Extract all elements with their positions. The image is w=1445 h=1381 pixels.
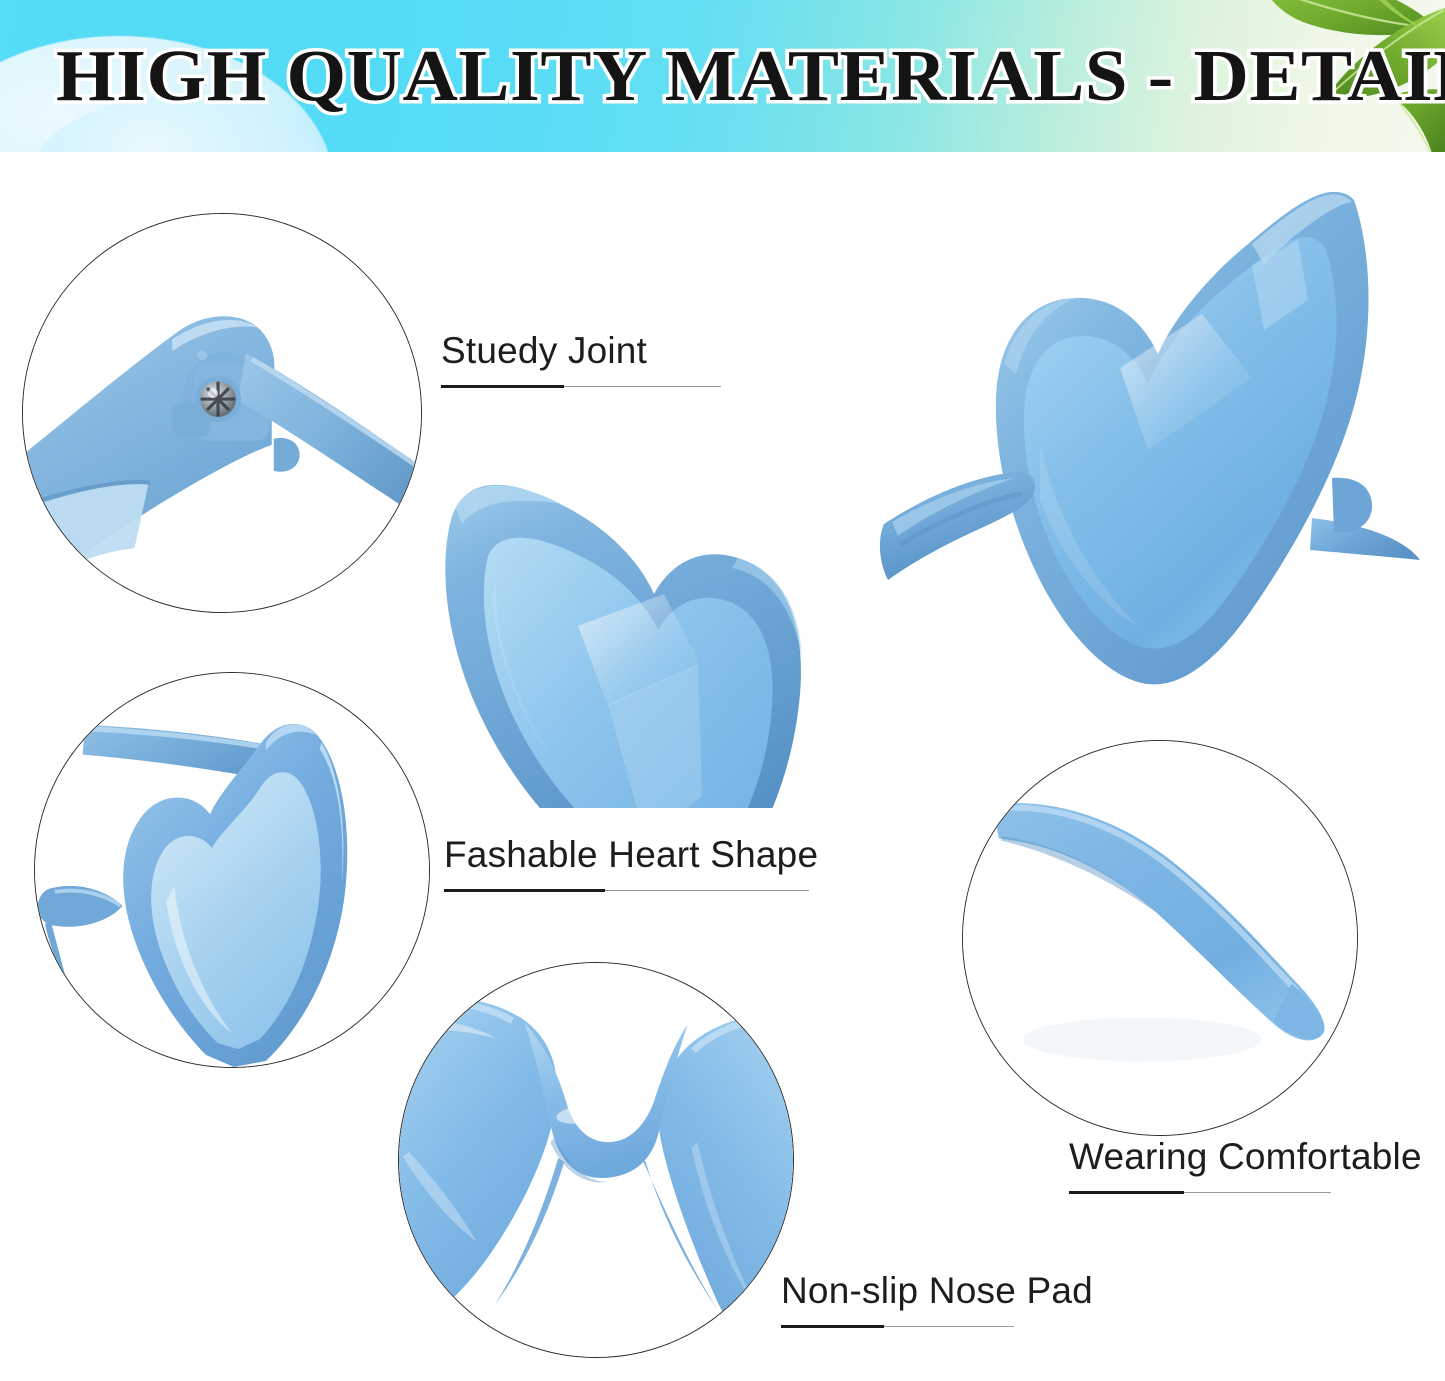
rule-light-segment: [884, 1326, 1014, 1327]
main-product-image: [432, 188, 1422, 808]
rule-light-segment: [605, 890, 809, 891]
callout-heart-shape-label: Fashable Heart Shape: [444, 836, 818, 875]
callout-nose-pad-label: Non-slip Nose Pad: [781, 1272, 1093, 1311]
callout-wearing-comfortable-label: Wearing Comfortable: [1069, 1138, 1422, 1177]
callout-heart-shape: Fashable Heart Shape: [444, 836, 818, 893]
rule-dark-segment: [441, 385, 564, 388]
rule-dark-segment: [1069, 1191, 1184, 1194]
callout-joint-label: Stuedy Joint: [441, 332, 721, 371]
callout-heart-shape-rule: [444, 889, 809, 893]
callout-nose-pad-rule: [781, 1325, 1014, 1329]
callout-wearing-comfortable-rule: [1069, 1191, 1331, 1195]
rule-dark-segment: [444, 889, 605, 892]
page-title: HIGH QUALITY MATERIALS - DETAILS: [56, 30, 1445, 122]
detail-circle-nose-pad: [398, 962, 794, 1358]
callout-nose-pad: Non-slip Nose Pad: [781, 1272, 1093, 1329]
rule-dark-segment: [781, 1325, 884, 1328]
callout-wearing-comfortable: Wearing Comfortable: [1069, 1138, 1422, 1195]
rule-light-segment: [1184, 1192, 1331, 1193]
callout-joint-rule: [441, 385, 721, 389]
rule-light-segment: [564, 386, 721, 387]
detail-circle-heart-shape: [34, 672, 430, 1068]
callout-joint: Stuedy Joint: [441, 332, 721, 389]
detail-circle-temple-arm: [962, 740, 1358, 1136]
detail-circle-joint: [22, 213, 422, 613]
infographic-page: HIGH QUALITY MATERIALS - DETAILS: [0, 0, 1445, 1381]
header-banner: HIGH QUALITY MATERIALS - DETAILS: [0, 0, 1445, 152]
